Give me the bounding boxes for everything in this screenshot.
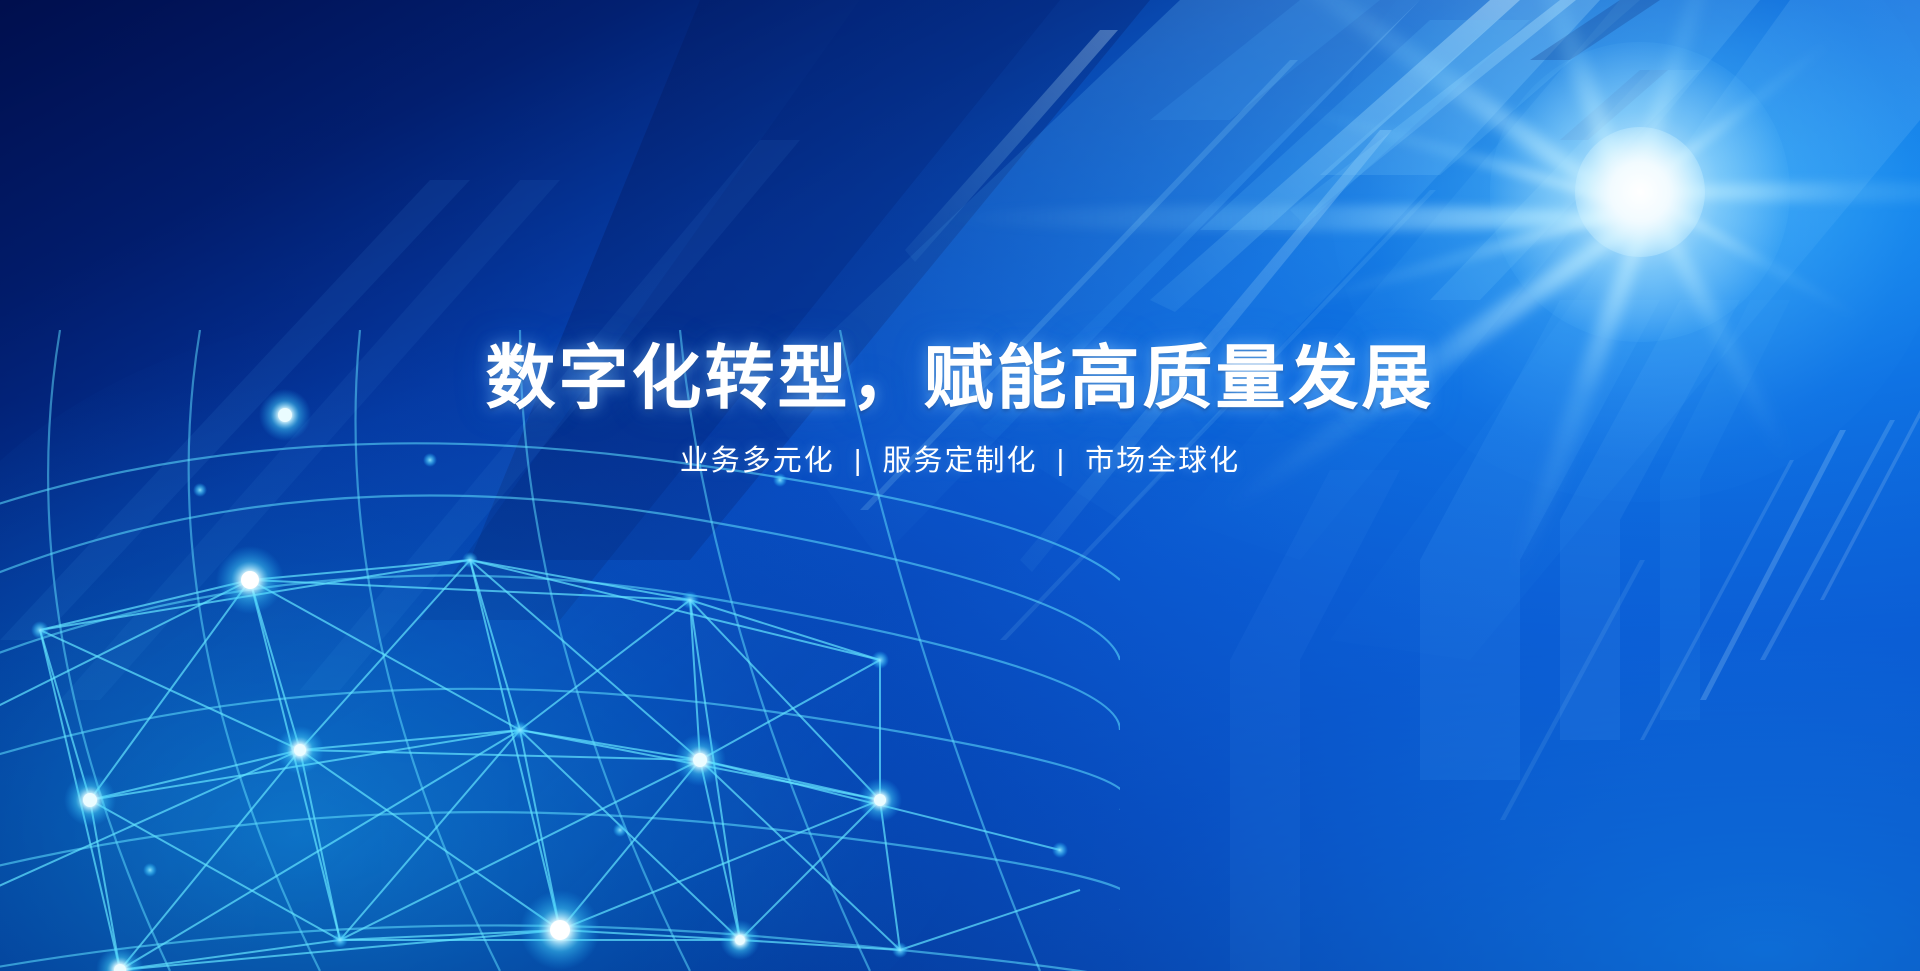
burst-hot-core [1575, 127, 1705, 257]
hero-banner: 数字化转型，赋能高质量发展 业务多元化 | 服务定制化 | 市场全球化 [0, 0, 1920, 971]
network-globe [0, 330, 1120, 971]
